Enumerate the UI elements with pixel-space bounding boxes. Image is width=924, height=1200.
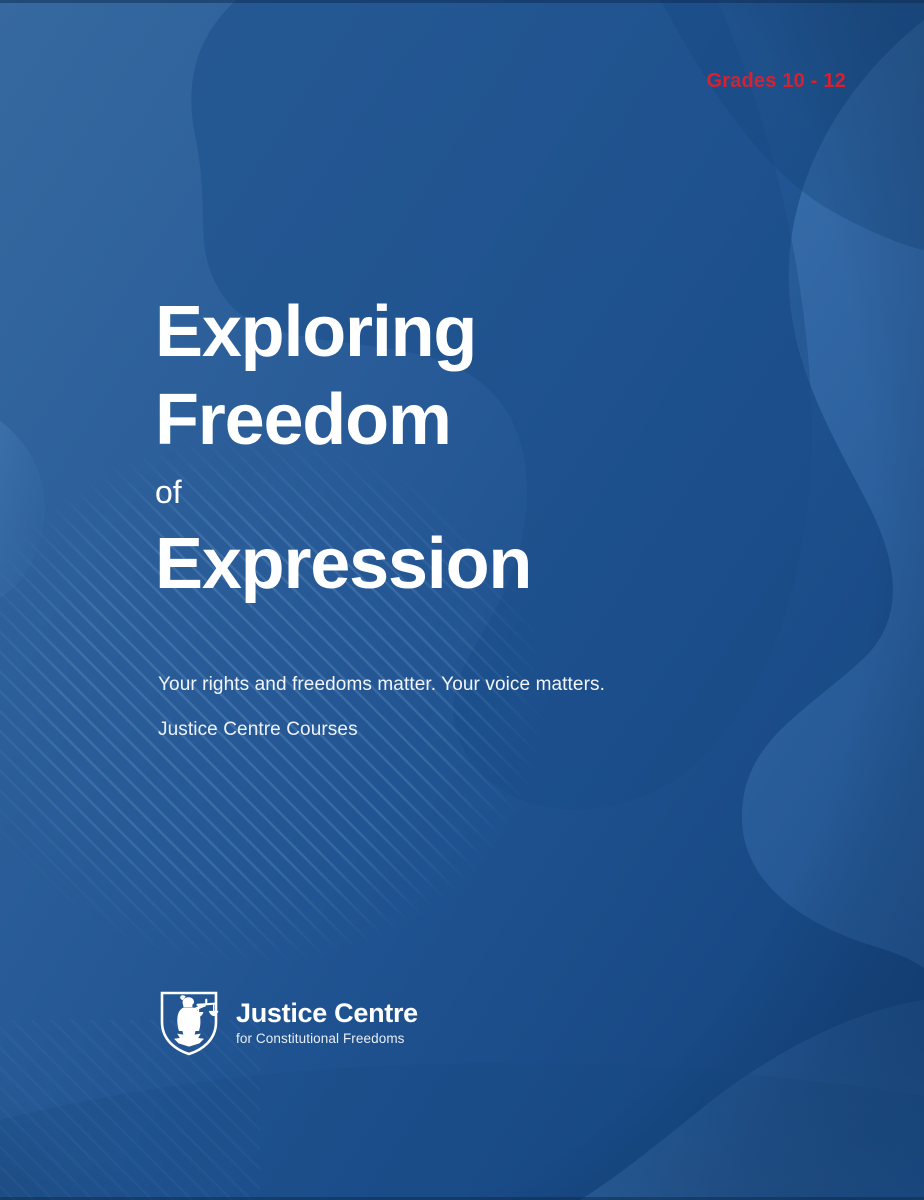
cover-page: Grades 10 - 12 Exploring Freedom of Expr… xyxy=(0,0,924,1200)
logo-organization-name: Justice Centre xyxy=(236,998,418,1029)
title-line-2: Freedom xyxy=(155,376,775,464)
cover-title-block: Exploring Freedom of Expression xyxy=(155,288,775,608)
cover-tagline-block: Your rights and freedoms matter. Your vo… xyxy=(158,670,798,745)
title-line-1: Exploring xyxy=(155,288,775,376)
logo-organization-subtitle: for Constitutional Freedoms xyxy=(236,1030,418,1048)
grade-range-badge: Grades 10 - 12 xyxy=(706,70,846,93)
justice-scales-shield-crest-icon xyxy=(158,988,220,1056)
tagline-text: Your rights and freedoms matter. Your vo… xyxy=(158,670,798,700)
organization-logo: Justice Centre for Constitutional Freedo… xyxy=(158,988,418,1056)
course-series-text: Justice Centre Courses xyxy=(158,715,798,745)
logo-wordmark: Justice Centre for Constitutional Freedo… xyxy=(236,996,418,1048)
title-line-3: of xyxy=(155,464,775,520)
title-line-4: Expression xyxy=(155,520,775,608)
